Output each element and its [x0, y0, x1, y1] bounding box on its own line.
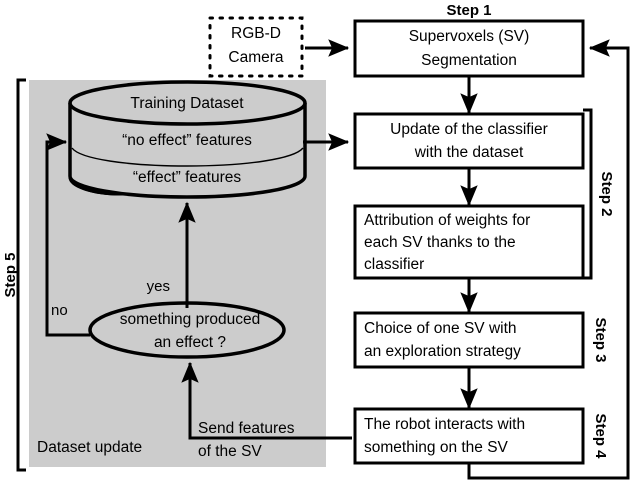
robot-label-line2: something on the SV	[364, 439, 509, 456]
choice-label-line2: an exploration strategy	[364, 343, 521, 360]
edge-label-send-features-line2: of the SV	[198, 443, 262, 460]
edge-label-send-features-line1: Send features	[198, 420, 295, 437]
edge-label-yes: yes	[147, 278, 170, 295]
attribution-label-line3: classifier	[364, 256, 424, 273]
step2-label: Step 2	[598, 171, 615, 216]
step3-label: Step 3	[592, 317, 609, 362]
supervoxels-label-line1: Supervoxels (SV)	[409, 28, 530, 45]
step5-label: Step 5	[2, 252, 19, 297]
rgbd-camera-label-line1: RGB-D	[231, 25, 281, 42]
step1-label: Step 1	[446, 2, 491, 19]
training-dataset-band2: “effect” features	[133, 169, 242, 186]
flowchart-canvas: Step 5 Step 1 RGB-D Camera Supervoxels (…	[0, 0, 640, 487]
training-dataset-title: Training Dataset	[130, 95, 244, 112]
step4-label: Step 4	[592, 413, 609, 459]
attribution-label-line1: Attribution of weights for	[364, 212, 530, 229]
step5-bracket	[18, 80, 26, 470]
decision-label-line2: an effect ?	[154, 334, 226, 351]
decision-label-line1: something produced	[120, 311, 260, 328]
update-classifier-label-line2: with the dataset	[414, 144, 524, 161]
robot-label-line1: The robot interacts with	[364, 416, 525, 433]
flowchart-diagram: Step 5 Step 1 RGB-D Camera Supervoxels (…	[0, 0, 640, 487]
supervoxels-label-line2: Segmentation	[421, 52, 517, 69]
attribution-label-line2: each SV thanks to the	[364, 234, 516, 251]
update-classifier-label-line1: Update of the classifier	[390, 121, 548, 138]
edge-label-no: no	[51, 302, 68, 319]
choice-label-line1: Choice of one SV with	[364, 320, 517, 337]
training-dataset-band1: “no effect” features	[122, 132, 252, 149]
panel-caption: Dataset update	[37, 439, 142, 456]
rgbd-camera-label-line2: Camera	[228, 49, 284, 66]
